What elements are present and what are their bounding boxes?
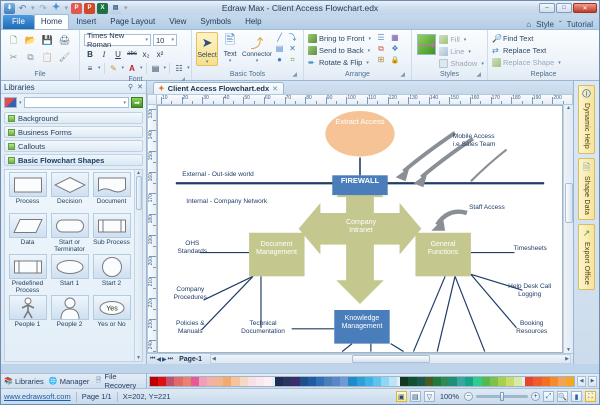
menu-page-layout[interactable]: Page Layout xyxy=(103,15,162,29)
window-title: Edraw Max - Client Access Flowchart.edx xyxy=(1,1,599,15)
palette-swatch[interactable] xyxy=(275,377,283,386)
ribbon-group-font: Times New Roman ▾ 10 ▾ B I U abc x₂ x² xyxy=(79,30,191,80)
shape-item-sub-process[interactable]: Sub Process xyxy=(91,213,132,253)
style-home-icon: ⌂ xyxy=(526,20,531,29)
rotate-flip-icon: ➨ xyxy=(308,58,317,67)
export-office-tab[interactable]: ↗ Export Office xyxy=(578,224,595,290)
palette-swatch[interactable] xyxy=(332,377,340,386)
palette-swatch[interactable] xyxy=(150,377,158,386)
select-tool[interactable]: ➤ Select ▾ xyxy=(196,32,218,66)
palette-swatch[interactable] xyxy=(465,377,473,386)
palette-swatch[interactable] xyxy=(357,377,365,386)
document-shape-icon xyxy=(97,176,127,194)
palette-swatch[interactable] xyxy=(223,377,231,386)
menu-home[interactable]: Home xyxy=(34,14,69,29)
italic-button[interactable]: I xyxy=(98,48,110,60)
palette-swatch[interactable] xyxy=(174,377,182,386)
shape-label: Start 2 xyxy=(102,280,121,294)
ruler-tick xyxy=(316,101,317,104)
palette-swatch[interactable] xyxy=(340,377,348,386)
library-category-label: Background xyxy=(18,114,58,123)
replace-list: 🔎 Find Text ⇄ Replace Text Replace Shape… xyxy=(492,32,561,68)
ribbon-label-styles: Styles ◢ xyxy=(416,70,483,80)
font-name-caret-icon: ▾ xyxy=(145,37,148,43)
ruler-label: 180 xyxy=(148,215,154,223)
person-shape-icon xyxy=(19,297,37,319)
palette-swatch[interactable] xyxy=(240,377,248,386)
format-painter-icon[interactable]: 🖌 xyxy=(58,51,71,64)
ruler-tick xyxy=(153,204,156,205)
palette-prev-button[interactable]: ◀ xyxy=(577,376,586,387)
next-page-button[interactable]: ▶ xyxy=(162,356,167,363)
ruler-tick xyxy=(153,351,156,352)
line-button[interactable]: Line ▾ xyxy=(439,46,484,57)
ruler-label: 240 xyxy=(148,341,154,349)
bring-to-front-button[interactable]: Bring to Front ▾ xyxy=(308,33,371,44)
palette-swatch[interactable] xyxy=(506,377,514,386)
connector-policies-manuals xyxy=(202,276,253,329)
palette-swatch[interactable] xyxy=(381,377,389,386)
palette-swatch[interactable] xyxy=(473,377,481,386)
rotate-flip-label: Rotate & Flip xyxy=(319,58,362,67)
palette-swatch[interactable] xyxy=(283,377,291,386)
mobile-arrowhead-2 xyxy=(413,173,427,187)
shape-grid: Process Decision Document xyxy=(5,170,134,361)
shape-label: Start or Terminator xyxy=(49,239,90,253)
shape-item-yes-or-no[interactable]: Yes Yes or No xyxy=(91,295,132,335)
shape-item-people-1[interactable]: People 1 xyxy=(7,295,48,335)
ruler-label: 160 xyxy=(148,173,154,181)
main-area: Libraries ⚲ ✕ ▾ ▾ ➡ Background xyxy=(1,81,599,364)
ellipse-shape-icon xyxy=(55,258,85,276)
shadow-caret-icon[interactable]: ▾ xyxy=(481,61,484,67)
menu-view[interactable]: View xyxy=(162,15,193,29)
send-to-back-label: Send to Back xyxy=(319,46,364,55)
connector-booking xyxy=(471,274,517,327)
page-tab[interactable]: Page-1 xyxy=(173,356,210,363)
bust-shape-icon xyxy=(60,297,80,319)
palette-swatch[interactable] xyxy=(433,377,441,386)
connector-company-procedures xyxy=(204,276,254,300)
status-divider-1 xyxy=(76,392,77,402)
manager-task[interactable]: 🌐 Manager xyxy=(49,377,90,386)
ruler-tick xyxy=(501,101,502,104)
palette-swatch[interactable] xyxy=(365,377,373,386)
knowledge-management-node xyxy=(334,310,389,344)
palette-swatch[interactable] xyxy=(183,377,191,386)
font-divider-2 xyxy=(146,63,147,74)
libraries-search-row: ▾ ▾ ➡ xyxy=(1,94,146,111)
rotate-flip-button[interactable]: ➨ Rotate & Flip ▾ xyxy=(308,57,371,68)
palette-swatch[interactable] xyxy=(566,377,574,386)
document-tab-icon: ✦ xyxy=(158,84,165,93)
general-functions-node xyxy=(415,233,470,277)
canvas-scroll-thumb[interactable] xyxy=(565,183,573,223)
ruler-tick xyxy=(419,101,420,104)
mobile-access-arrows xyxy=(404,133,473,178)
shape-item-process[interactable]: Process xyxy=(7,172,48,212)
fullscreen-button[interactable]: ⛶ xyxy=(585,391,596,402)
ruler-label: 140 xyxy=(430,95,438,101)
select-caret-icon[interactable]: ▾ xyxy=(206,59,209,65)
connector-help-desk xyxy=(471,274,522,290)
font-row-1: Times New Roman ▾ 10 ▾ xyxy=(84,33,177,47)
basic-tools-dialog-launcher-icon[interactable]: ◢ xyxy=(292,70,297,80)
arrange-dialog-launcher-icon[interactable]: ◢ xyxy=(400,70,405,80)
library-category-label: Basic Flowchart Shapes xyxy=(18,156,104,165)
canvas-area: ✦ Client Access Flowchart.edx ✕ 10203040… xyxy=(147,81,573,364)
file-recovery-task[interactable]: 🗎 File Recovery xyxy=(94,372,146,390)
horizontal-ruler[interactable]: 1020304050607080901001101201301401501601… xyxy=(157,94,573,105)
shape-label: People 1 xyxy=(15,321,41,335)
bold-button[interactable]: B xyxy=(84,48,96,60)
bullets-button[interactable]: ☷ xyxy=(173,62,185,74)
canvas-horizontal-scrollbar[interactable]: ◀ ▶ xyxy=(210,354,571,364)
connector-caret-icon[interactable]: ▾ xyxy=(256,58,259,64)
ruler-label: 30 xyxy=(203,95,209,101)
website-link[interactable]: www.edrawsoft.com xyxy=(4,392,71,401)
menu-tutorial[interactable]: Tutorial xyxy=(567,20,593,29)
font-color-caret-icon[interactable]: ▾ xyxy=(140,65,143,71)
fill-label: Fill xyxy=(450,35,460,44)
shape-data-tab[interactable]: 🗎 Shape Data xyxy=(578,158,595,220)
cut-icon[interactable]: ✂ xyxy=(7,51,20,64)
ruler-tick xyxy=(522,101,523,104)
paste-icon[interactable]: 📋 xyxy=(41,51,54,64)
first-page-button[interactable]: ⏮ xyxy=(150,356,155,363)
subscript-button[interactable]: x₂ xyxy=(140,48,152,60)
fill-button[interactable]: Fill ▾ xyxy=(439,34,484,45)
vertical-ruler[interactable]: 130140150160170180190200210220230240 xyxy=(147,105,157,353)
shadow-button[interactable]: Shadow ▾ xyxy=(439,58,484,69)
mobile-arrow-1 xyxy=(404,133,455,172)
shape-preview: Yes xyxy=(93,295,131,320)
palette-swatch[interactable] xyxy=(449,377,457,386)
shape-label: Data xyxy=(21,239,35,253)
shape-item-start-or-terminator[interactable]: Start or Terminator xyxy=(49,213,90,253)
mobile-arrowhead-1 xyxy=(396,167,410,181)
zoom-slider[interactable] xyxy=(476,395,528,398)
align-caret-icon[interactable]: ▾ xyxy=(164,65,167,71)
menu-style[interactable]: Style xyxy=(536,20,554,29)
bottom-area: 📚 Libraries 🌐 Manager 🗎 File Recovery ◀ … xyxy=(1,373,599,404)
font-size-value: 10 xyxy=(156,36,164,45)
library-category-business-forms[interactable]: Business Forms xyxy=(4,126,143,138)
palette-swatch[interactable] xyxy=(514,377,522,386)
ruler-label: 170 xyxy=(492,95,500,101)
font-color-button[interactable]: A xyxy=(126,62,138,74)
ribbon-group-arrange: Bring to Front ▾ Send to Back ▾ ➨ Rotate… xyxy=(303,30,411,80)
palette-swatch[interactable] xyxy=(264,377,272,386)
palette-swatch[interactable] xyxy=(441,377,449,386)
find-text-label: Find Text xyxy=(503,34,533,43)
ruler-tick xyxy=(153,267,156,268)
document-tab[interactable]: ✦ Client Access Flowchart.edx ✕ xyxy=(153,82,284,94)
line-label: Line xyxy=(450,47,464,56)
palette-swatch[interactable] xyxy=(215,377,223,386)
ruler-label: 130 xyxy=(148,110,154,118)
palette-swatch[interactable] xyxy=(498,377,506,386)
zoom-slider-thumb[interactable] xyxy=(500,392,504,401)
lock-icon[interactable]: 🔒 xyxy=(389,54,401,66)
palette-swatch[interactable] xyxy=(373,377,381,386)
shape-label: Yes or No xyxy=(97,321,125,335)
color-palette-area: ◀ ▶ xyxy=(147,373,599,388)
highlight-caret-icon[interactable]: ▾ xyxy=(122,65,125,71)
open-icon[interactable]: 📂 xyxy=(24,34,37,47)
terminator-shape-icon xyxy=(55,218,85,234)
ruler-label: 180 xyxy=(512,95,520,101)
library-type-icon[interactable] xyxy=(4,97,17,108)
palette-swatch[interactable] xyxy=(308,377,316,386)
line-caret-icon[interactable]: ▾ xyxy=(468,49,471,55)
palette-swatch[interactable] xyxy=(231,377,239,386)
fill-icon xyxy=(439,35,448,44)
ruler-row: 1020304050607080901001101201301401501601… xyxy=(147,94,573,105)
palette-swatch[interactable] xyxy=(408,377,416,386)
palette-swatch[interactable] xyxy=(400,377,408,386)
shape-preview xyxy=(9,295,47,320)
hscroll-right-icon[interactable]: ▶ xyxy=(564,356,570,362)
save-icon[interactable]: 💾 xyxy=(41,34,54,47)
palette-swatch[interactable] xyxy=(482,377,490,386)
print-icon[interactable]: 🖨 xyxy=(58,34,71,47)
palette-swatch[interactable] xyxy=(316,377,324,386)
palette-swatch[interactable] xyxy=(158,377,166,386)
ruler-tick xyxy=(254,101,255,104)
library-category-label: Business Forms xyxy=(18,128,72,137)
shape-label: Process xyxy=(16,198,39,212)
text-caret-icon[interactable]: ▾ xyxy=(229,58,232,64)
ruler-label: 130 xyxy=(409,95,417,101)
palette-swatch[interactable] xyxy=(256,377,264,386)
arrange-body: Bring to Front ▾ Send to Back ▾ ➨ Rotate… xyxy=(308,32,407,70)
ruler-label: 190 xyxy=(533,95,541,101)
ruler-label: 80 xyxy=(306,95,312,101)
library-category-basic-flowchart-shapes[interactable]: Basic Flowchart Shapes xyxy=(4,154,143,166)
font-name-combo[interactable]: Times New Roman ▾ xyxy=(84,34,151,46)
strikethrough-button[interactable]: abc xyxy=(126,48,138,60)
page-view-button[interactable]: ▤ xyxy=(410,391,421,402)
circle-shape-icon xyxy=(101,256,123,278)
palette-swatch[interactable] xyxy=(291,377,299,386)
shape-item-decision[interactable]: Decision xyxy=(49,172,90,212)
replace-text-label: Replace Text xyxy=(503,46,546,55)
palette-swatch[interactable] xyxy=(300,377,308,386)
prev-page-button[interactable]: ◀ xyxy=(156,356,161,363)
ruler-label: 200 xyxy=(148,257,154,265)
font-divider-3 xyxy=(169,63,170,74)
shape-item-predefined-process[interactable]: Predefined Process xyxy=(7,254,48,294)
ruler-label: 190 xyxy=(148,236,154,244)
text-tool[interactable]: 🖹 Text ▾ xyxy=(219,32,241,64)
shape-preview xyxy=(93,254,131,279)
align-button[interactable]: ▤ xyxy=(150,62,162,74)
palette-swatch[interactable] xyxy=(166,377,174,386)
ruler-tick xyxy=(295,101,296,104)
palette-swatch[interactable] xyxy=(348,377,356,386)
palette-swatch[interactable] xyxy=(457,377,465,386)
library-category-background[interactable]: Background xyxy=(4,112,143,124)
palette-swatch[interactable] xyxy=(191,377,199,386)
palette-swatch[interactable] xyxy=(558,377,566,386)
position-icon[interactable]: ⊞ xyxy=(375,54,387,66)
category-icon xyxy=(8,143,15,150)
menu-help[interactable]: Help xyxy=(238,15,268,29)
dynamic-help-tab[interactable]: 🛈 Dynamic Help xyxy=(578,85,595,154)
select-arrow-icon: ➤ xyxy=(198,34,216,52)
line-spacing-button[interactable]: ≡ xyxy=(84,62,96,74)
palette-swatch[interactable] xyxy=(425,377,433,386)
hscroll-left-icon[interactable]: ◀ xyxy=(211,356,217,362)
fill-caret-icon[interactable]: ▾ xyxy=(464,37,467,43)
ruler-label: 230 xyxy=(148,320,154,328)
font-size-caret-icon: ▾ xyxy=(171,37,174,43)
document-management-node xyxy=(249,233,304,277)
rotate-flip-caret-icon[interactable]: ▾ xyxy=(366,60,369,66)
flowchart-diagram[interactable] xyxy=(158,106,562,352)
send-to-back-caret-icon[interactable]: ▾ xyxy=(368,48,371,54)
shape-item-data[interactable]: Data xyxy=(7,213,48,253)
library-type-caret-icon[interactable]: ▾ xyxy=(19,100,22,106)
fit-page-button[interactable]: ⤢ xyxy=(543,391,554,402)
palette-swatch[interactable] xyxy=(542,377,550,386)
canvas-scroll-up-icon[interactable]: ▲ xyxy=(566,105,571,111)
ruler-tick xyxy=(563,101,564,104)
superscript-button[interactable]: x² xyxy=(154,48,166,60)
palette-swatch[interactable] xyxy=(533,377,541,386)
normal-view-button[interactable]: ▣ xyxy=(396,391,407,402)
line-spacing-caret-icon[interactable]: ▾ xyxy=(98,65,101,71)
canvas-vertical-scrollbar[interactable]: ▲ ▼ xyxy=(563,105,573,353)
menu-file[interactable]: File xyxy=(3,15,34,29)
shape-item-start-2[interactable]: Start 2 xyxy=(91,254,132,294)
style-preview[interactable]: ⟶ xyxy=(417,34,436,55)
menu-insert[interactable]: Insert xyxy=(69,15,103,29)
extract-access-node xyxy=(325,111,394,157)
highlight-color-button[interactable]: ✎ xyxy=(108,62,120,74)
replace-shape-caret-icon[interactable]: ▾ xyxy=(558,60,561,66)
ruler-tick xyxy=(439,101,440,104)
ruler-tick xyxy=(192,101,193,104)
connector-tool[interactable]: ⤴ Connector ▾ xyxy=(242,32,272,64)
ruler-label: 150 xyxy=(148,152,154,160)
libraries-task[interactable]: 📚 Libraries xyxy=(4,377,44,386)
font-size-combo[interactable]: 10 ▾ xyxy=(153,34,177,46)
ribbon-label-font-text: Font xyxy=(128,76,142,83)
ribbon-group-basic-tools: ➤ Select ▾ 🖹 Text ▾ ⤴ Connector ▾ ╱ ⤵ xyxy=(191,30,303,80)
mobile-arrow-2 xyxy=(421,139,472,178)
bullets-caret-icon[interactable]: ▾ xyxy=(187,65,190,71)
ruler-tick xyxy=(460,101,461,104)
taskbar-and-palette-row: 📚 Libraries 🌐 Manager 🗎 File Recovery ◀ … xyxy=(1,373,599,388)
palette-swatch[interactable] xyxy=(248,377,256,386)
replace-shape-button[interactable]: Replace Shape ▾ xyxy=(492,57,561,68)
libraries-task-label: Libraries xyxy=(15,377,44,386)
new-document-icon[interactable]: 🗋 xyxy=(7,34,20,47)
palette-swatch[interactable] xyxy=(324,377,332,386)
find-text-icon: 🔎 xyxy=(492,34,501,43)
replace-body: 🔎 Find Text ⇄ Replace Text Replace Shape… xyxy=(492,32,595,70)
ruler-tick xyxy=(233,101,234,104)
shape-label: Sub Process xyxy=(93,239,130,253)
connector-icon: ⤴ xyxy=(248,33,266,51)
styles-body: ⟶ Fill ▾ Line ▾ Shadow ▾ xyxy=(416,32,483,70)
scroll-down-icon[interactable]: ▼ xyxy=(136,355,141,361)
zoom-in-button[interactable]: + xyxy=(531,392,540,401)
tutorial-caret-icon: ˇ xyxy=(559,20,562,29)
font-row-2: B I U abc x₂ x² xyxy=(84,47,166,61)
search-input[interactable]: ▾ xyxy=(24,97,129,108)
ruler-tick xyxy=(153,225,156,226)
ruler-label: 160 xyxy=(471,95,479,101)
search-go-button[interactable]: ➡ xyxy=(131,97,143,108)
full-view-button[interactable]: ▽ xyxy=(424,391,435,402)
dynamic-help-label: Dynamic Help xyxy=(583,103,590,149)
palette-swatch[interactable] xyxy=(490,377,498,386)
search-caret-icon[interactable]: ▾ xyxy=(123,100,126,106)
palette-swatch[interactable] xyxy=(199,377,207,386)
shape-item-document[interactable]: Document xyxy=(91,172,132,212)
shape-preview xyxy=(93,213,131,238)
export-office-label: Export Office xyxy=(583,242,590,285)
send-to-back-button[interactable]: Send to Back ▾ xyxy=(308,45,371,56)
palette-swatch[interactable] xyxy=(525,377,533,386)
palette-swatch[interactable] xyxy=(550,377,558,386)
bring-to-front-caret-icon[interactable]: ▾ xyxy=(368,36,371,42)
libraries-task-icon: 📚 xyxy=(4,377,13,386)
panel-taskbar: 📚 Libraries 🌐 Manager 🗎 File Recovery xyxy=(1,373,147,388)
replace-text-icon: ⇄ xyxy=(492,46,501,55)
shape-label: Start 1 xyxy=(60,280,79,294)
ribbon-group-replace: 🔎 Find Text ⇄ Replace Text Replace Shape… xyxy=(487,30,599,80)
palette-next-button[interactable]: ▶ xyxy=(588,376,597,387)
ellipse-tool[interactable]: ● xyxy=(274,54,286,66)
palette-swatch[interactable] xyxy=(389,377,397,386)
diagram-page[interactable]: Extract Access FIREWALL CompanyIntranet … xyxy=(157,105,563,353)
library-category-callouts[interactable]: Callouts xyxy=(4,140,143,152)
zoom-out-button[interactable]: − xyxy=(464,392,473,401)
shape-item-people-2[interactable]: People 2 xyxy=(49,295,90,335)
font-row-3: ≡ ▾ ✎ ▾ A ▾ ▤ ▾ ☷ ▾ xyxy=(84,61,190,75)
select-tool-label: Select xyxy=(197,52,216,59)
document-tab-close-icon[interactable]: ✕ xyxy=(272,85,278,93)
predefined-process-shape-icon xyxy=(13,258,43,276)
palette-swatch[interactable] xyxy=(417,377,425,386)
palette-swatch[interactable] xyxy=(207,377,215,386)
styles-dialog-launcher-icon[interactable]: ◢ xyxy=(476,70,481,80)
replace-text-button[interactable]: ⇄ Replace Text xyxy=(492,45,561,56)
color-palette[interactable] xyxy=(149,376,575,387)
shape-gallery-scrollbar[interactable]: ▲ ▼ xyxy=(134,170,142,361)
zoom-tool-button[interactable]: 🔍 xyxy=(557,391,568,402)
scroll-thumb[interactable] xyxy=(136,176,142,210)
file-recovery-task-label: File Recovery xyxy=(105,372,146,390)
fit-width-button[interactable]: ▮ xyxy=(571,391,582,402)
ruler-corner[interactable] xyxy=(147,94,157,105)
ruler-tick xyxy=(542,101,543,104)
connector-tool-label: Connector xyxy=(242,51,272,58)
copy-icon[interactable]: ⧉ xyxy=(24,51,37,64)
status-divider-2 xyxy=(117,392,118,402)
hscroll-thumb[interactable] xyxy=(352,355,430,363)
crop-tool[interactable]: ⌗ xyxy=(287,54,299,66)
connector-km-bottom-3 xyxy=(391,344,404,352)
underline-button[interactable]: U xyxy=(112,48,124,60)
find-text-button[interactable]: 🔎 Find Text xyxy=(492,33,561,44)
menu-symbols[interactable]: Symbols xyxy=(193,15,238,29)
shape-item-start-1[interactable]: Start 1 xyxy=(49,254,90,294)
